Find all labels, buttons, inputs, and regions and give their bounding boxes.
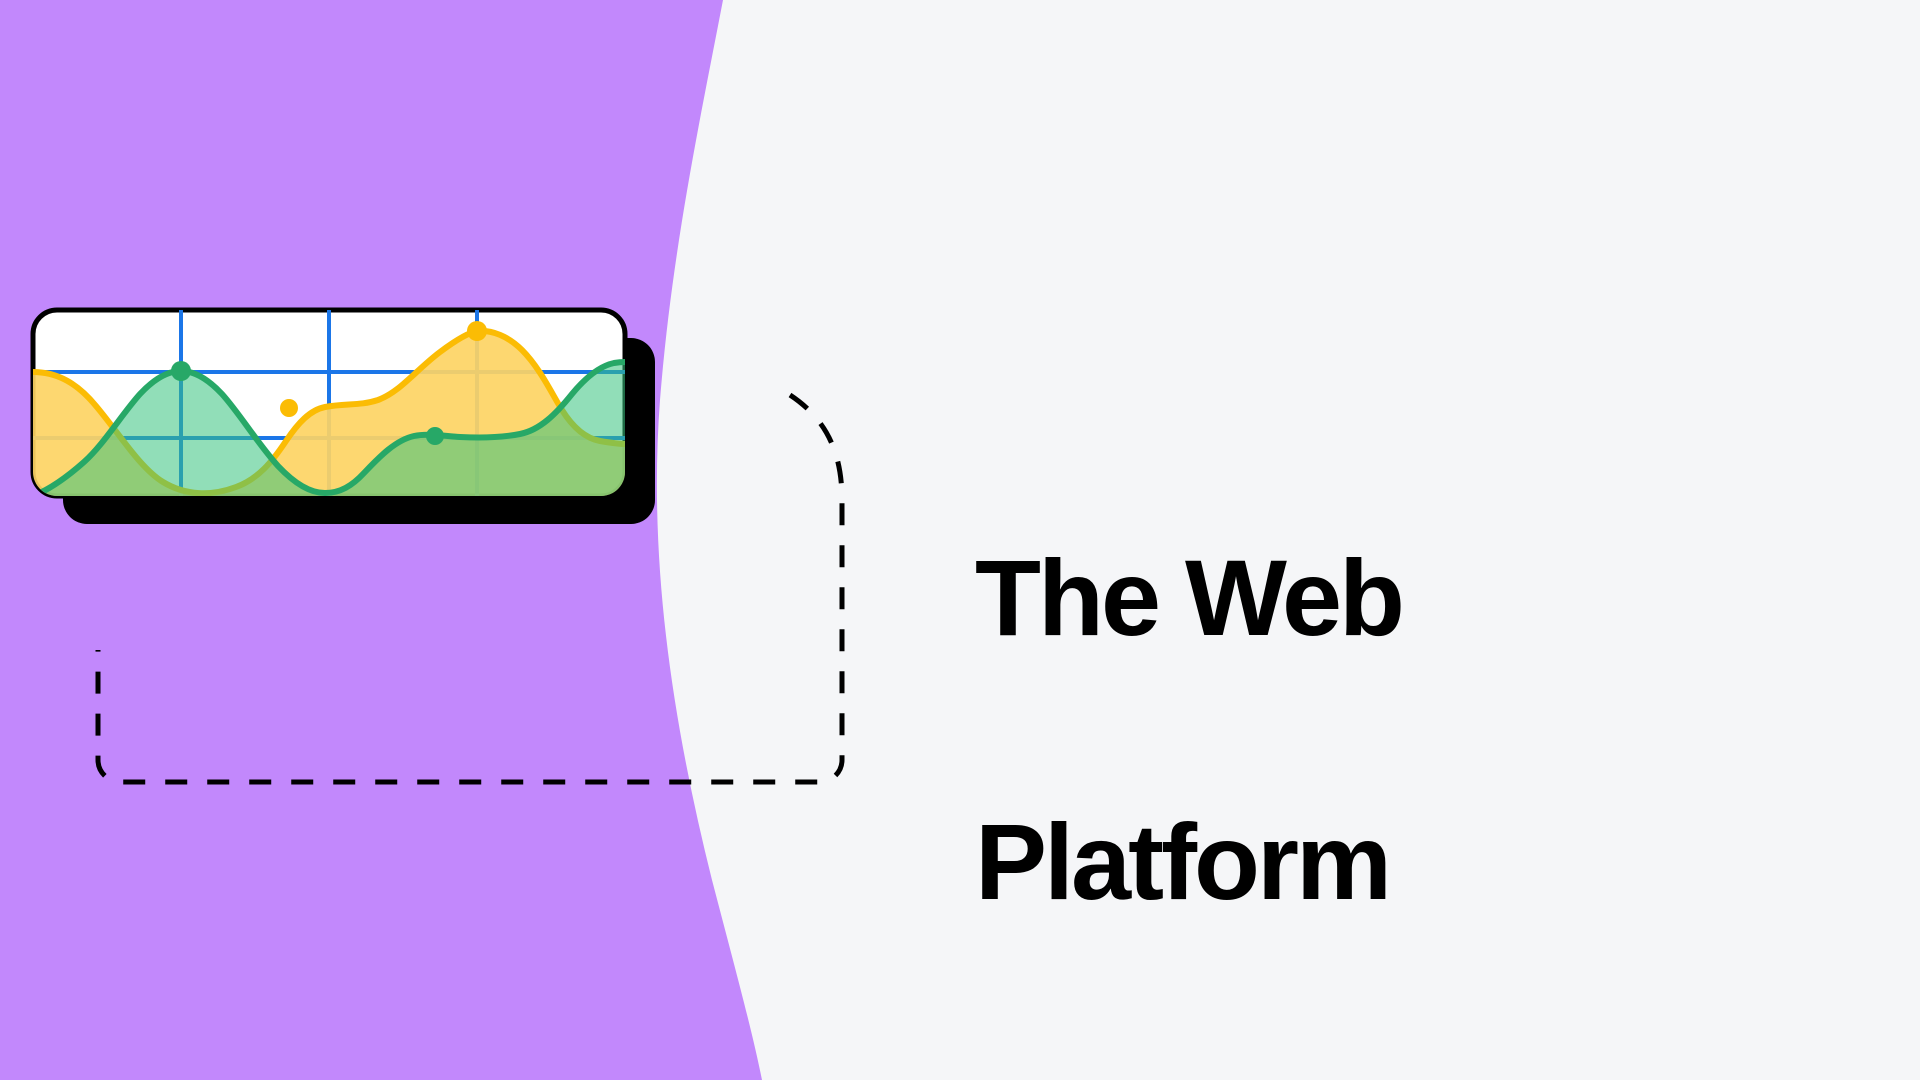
- page-title-line-3: Dashboard: [975, 1060, 1735, 1080]
- slide-root: The Web Platform Dashboard: [0, 0, 1920, 1080]
- page-title-line-2: Platform: [975, 796, 1735, 928]
- page-title: The Web Platform Dashboard: [975, 400, 1735, 1080]
- page-title-line-1: The Web: [975, 532, 1735, 664]
